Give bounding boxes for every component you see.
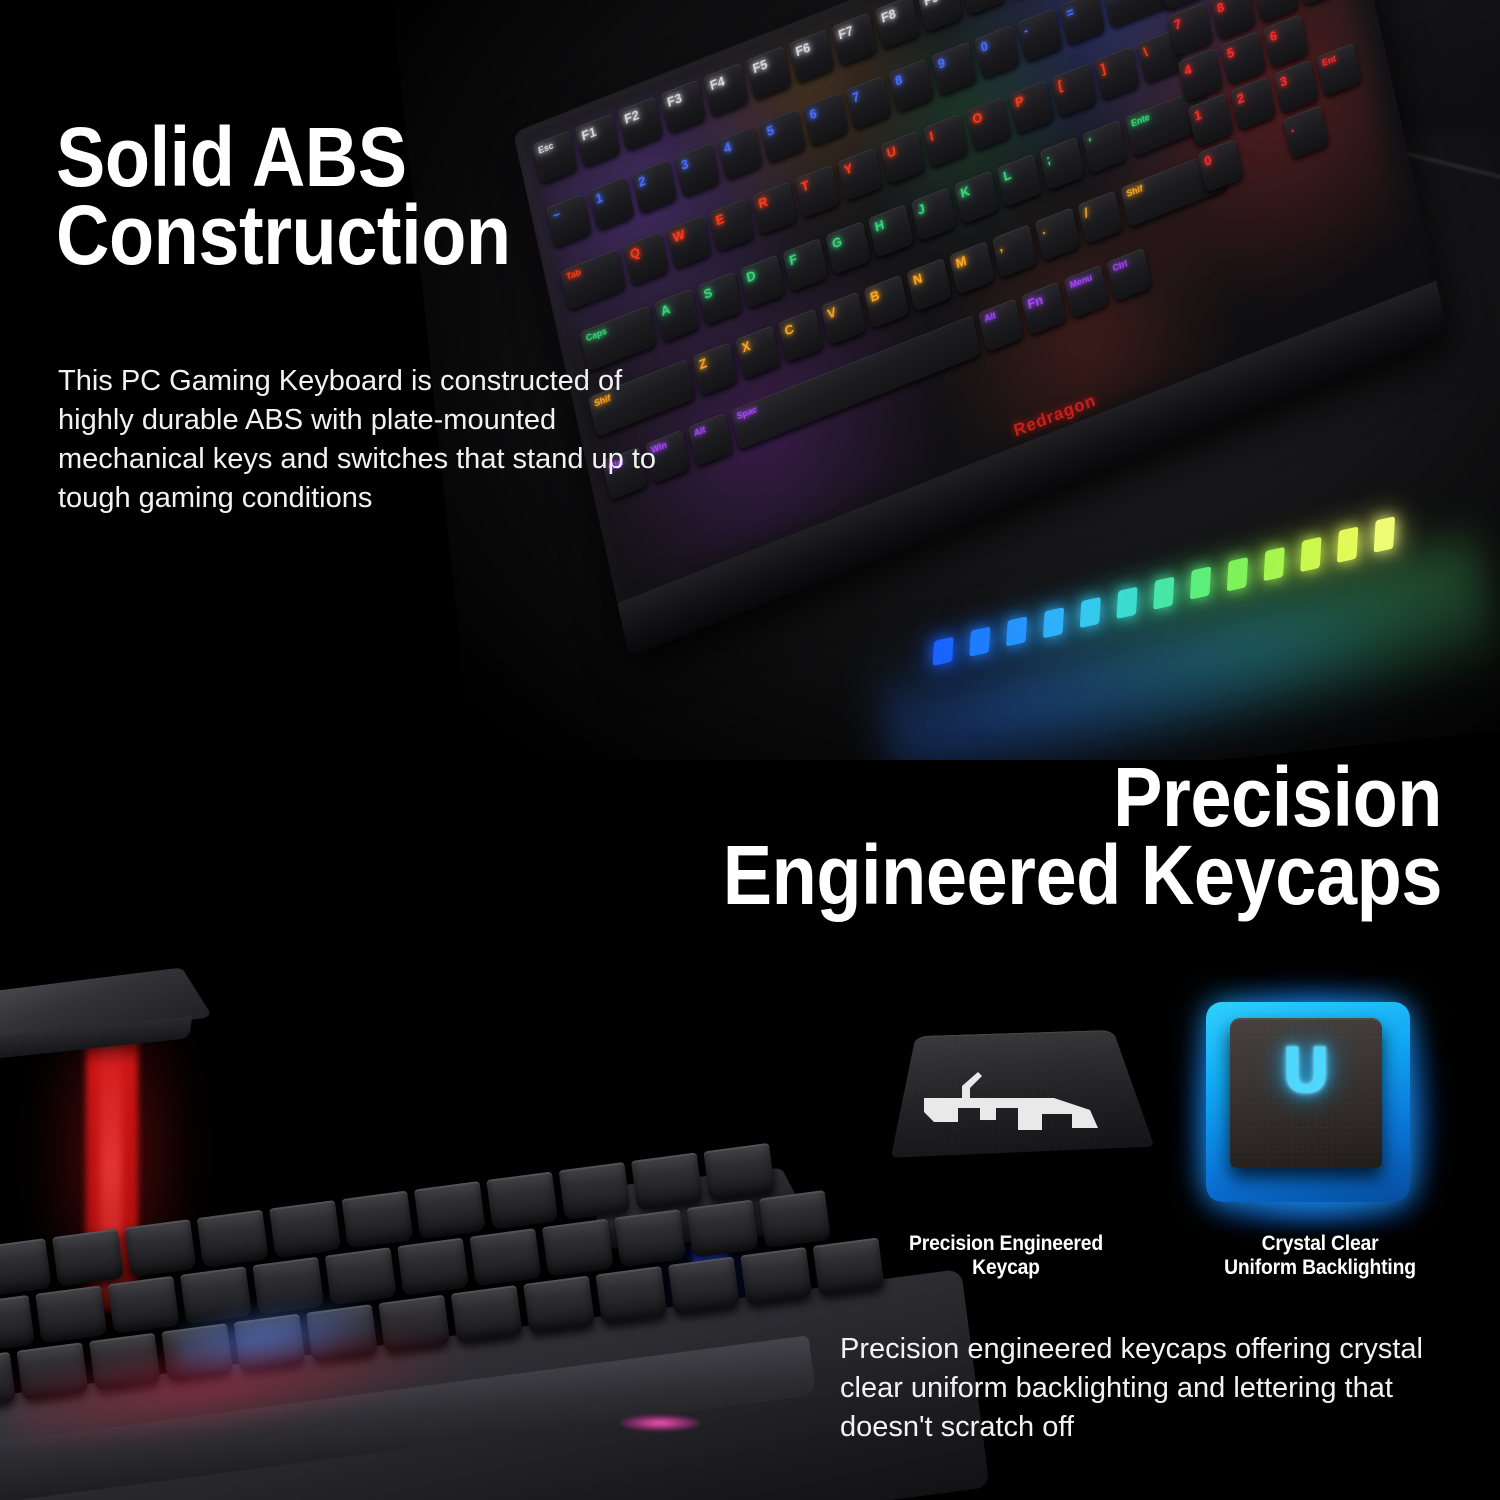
- key-z: Z: [692, 342, 738, 396]
- lightbar-segment: [1043, 607, 1064, 638]
- body-solid-abs: This PC Gaming Keyboard is constructed o…: [58, 362, 658, 517]
- callout-label-uniform-backlighting: Crystal ClearUniform Backlighting: [1173, 1232, 1467, 1281]
- mechanical-keyboard: EscF1F2F3F4F5F6F7F8F9F10F11F12~123456789…: [513, 0, 1500, 760]
- callout-line-2: Uniform Backlighting: [1224, 1256, 1416, 1279]
- key-l: L: [996, 153, 1042, 207]
- key-f8: F8: [874, 0, 920, 49]
- numpad-key-1: 1: [1187, 93, 1233, 147]
- mousepad: [1160, 0, 1500, 130]
- key-c: C: [778, 308, 824, 362]
- key-h: H: [868, 204, 914, 258]
- lightbar-segment: [1153, 577, 1174, 610]
- numpad-key-4: 4: [1177, 48, 1223, 102]
- callout-line-1: Crystal Clear: [1262, 1232, 1379, 1255]
- rgb-lightbar: [910, 427, 1483, 665]
- keyboard-chassis: EscF1F2F3F4F5F6F7F8F9F10F11F12~123456789…: [513, 0, 1448, 657]
- keycap-legend: U: [1230, 1040, 1382, 1102]
- key-s: S: [697, 271, 743, 325]
- lightbar-segment: [1190, 567, 1211, 601]
- backlit-keycap-icon: U: [1196, 994, 1428, 1218]
- lightbar-segment: [1006, 617, 1027, 647]
- indicator-leds: [1041, 432, 1091, 456]
- numpad-key-num: Num: [1157, 0, 1203, 11]
- caps-lock-led: [1062, 440, 1071, 448]
- numpad-key-9: 9: [1253, 0, 1299, 23]
- numpad-key-6: 6: [1263, 14, 1309, 68]
- lightbar-segment: [933, 637, 954, 666]
- numpad-key--: .: [1283, 105, 1329, 159]
- key-menu: Menu: [1064, 265, 1110, 319]
- key-x: X: [735, 325, 781, 379]
- key-m: M: [949, 241, 995, 295]
- key--: [: [1051, 63, 1097, 117]
- keycap-underside-icon: [900, 1000, 1140, 1215]
- keycap-cross-section-icon: [922, 1064, 1108, 1150]
- lightbar-glow: [868, 528, 1500, 760]
- key--: .: [1035, 207, 1081, 261]
- rgb-underglow: [527, 0, 1416, 594]
- product-infographic: EscF1F2F3F4F5F6F7F8F9F10F11F12~123456789…: [0, 0, 1500, 1500]
- key-0: 0: [974, 25, 1020, 79]
- callout-label-precision-keycap: Precision EngineeredKeycap: [883, 1232, 1130, 1281]
- key-i: I: [923, 114, 969, 168]
- key--: =: [1060, 0, 1106, 45]
- key--: -: [1017, 8, 1063, 62]
- brand-logo: Redragon: [1012, 388, 1104, 443]
- key--: ,: [992, 224, 1038, 278]
- key--: ]: [1094, 46, 1140, 100]
- key-shift: Shif: [1120, 149, 1227, 227]
- keycap-body: U: [1230, 1018, 1382, 1168]
- key-v: V: [821, 291, 867, 345]
- key-b: B: [863, 275, 909, 329]
- callout-line-1: Precision Engineered: [909, 1232, 1103, 1255]
- key-j: J: [911, 187, 957, 241]
- numpad-key-0: 0: [1198, 139, 1244, 193]
- key-alt: Alt: [688, 413, 734, 467]
- numpad-key-7: 7: [1167, 2, 1213, 56]
- key-u: U: [880, 130, 926, 184]
- key--: ': [1082, 120, 1128, 174]
- key--: ;: [1039, 137, 1085, 191]
- key-f5: F5: [746, 46, 792, 100]
- key--: /: [1077, 190, 1123, 244]
- key-ctrl: Ctrl: [1106, 248, 1152, 302]
- numpad-key-3: 3: [1273, 59, 1319, 113]
- key-7: 7: [846, 75, 892, 129]
- lightbar-segment: [1227, 557, 1248, 591]
- key-9: 9: [931, 42, 977, 96]
- key-a: A: [654, 288, 700, 342]
- key-f10: F10: [960, 0, 1006, 16]
- key-row: CtrlWinAltSpacAltFnMenuCtrl: [602, 248, 1152, 501]
- heading-line-2: Engineered Keycaps: [723, 828, 1442, 922]
- numpad-key--: +: [1296, 0, 1342, 6]
- lightbar-segment: [1263, 547, 1284, 582]
- key-f7: F7: [832, 12, 878, 66]
- heading-precision-engineered-keycaps: Precision Engineered Keycaps: [210, 758, 1442, 914]
- key-fn: Fn: [1021, 281, 1067, 335]
- lightbar-segment: [1116, 587, 1137, 619]
- heading-line-2: Construction: [56, 188, 511, 282]
- lightbar-segment: [969, 627, 990, 657]
- lightbar-segment: [1337, 527, 1358, 563]
- body-precision-keycaps: Precision engineered keycaps offering cr…: [840, 1330, 1480, 1447]
- key-f6: F6: [789, 29, 835, 83]
- key-n: N: [906, 258, 952, 312]
- scroll-lock-led: [1082, 432, 1091, 440]
- num-lock-led: [1041, 448, 1050, 456]
- key-p: P: [1008, 80, 1054, 134]
- numpad-key-5: 5: [1220, 31, 1266, 85]
- numpad-key-8: 8: [1210, 0, 1256, 40]
- lightbar-segment: [1374, 517, 1396, 554]
- key-space: Spac: [730, 315, 981, 450]
- numpad-key-2: 2: [1230, 76, 1276, 130]
- numpad-key-ent: Ent: [1316, 43, 1362, 97]
- heading-solid-abs-construction: Solid ABS Construction: [56, 118, 848, 274]
- lightbar-segment: [1300, 537, 1321, 572]
- key-8: 8: [888, 58, 934, 112]
- key-enter: Ente: [1125, 87, 1212, 157]
- key-bksp: Bksp: [1102, 0, 1180, 28]
- key-grid: EscF1F2F3F4F5F6F7F8F9F10F11F12~123456789…: [513, 0, 1332, 133]
- key-o: O: [966, 97, 1012, 151]
- keyboard-front-lip: [617, 281, 1448, 657]
- desk-edge: [911, 28, 1500, 216]
- key-f4: F4: [703, 63, 749, 117]
- callout-line-2: Keycap: [972, 1256, 1040, 1279]
- key-alt: Alt: [978, 298, 1024, 352]
- key-k: K: [954, 170, 1000, 224]
- keyboard-cable: [1244, 0, 1340, 263]
- lightbar-segment: [1080, 597, 1101, 629]
- key--: \: [1137, 29, 1183, 83]
- key-f9: F9: [917, 0, 963, 32]
